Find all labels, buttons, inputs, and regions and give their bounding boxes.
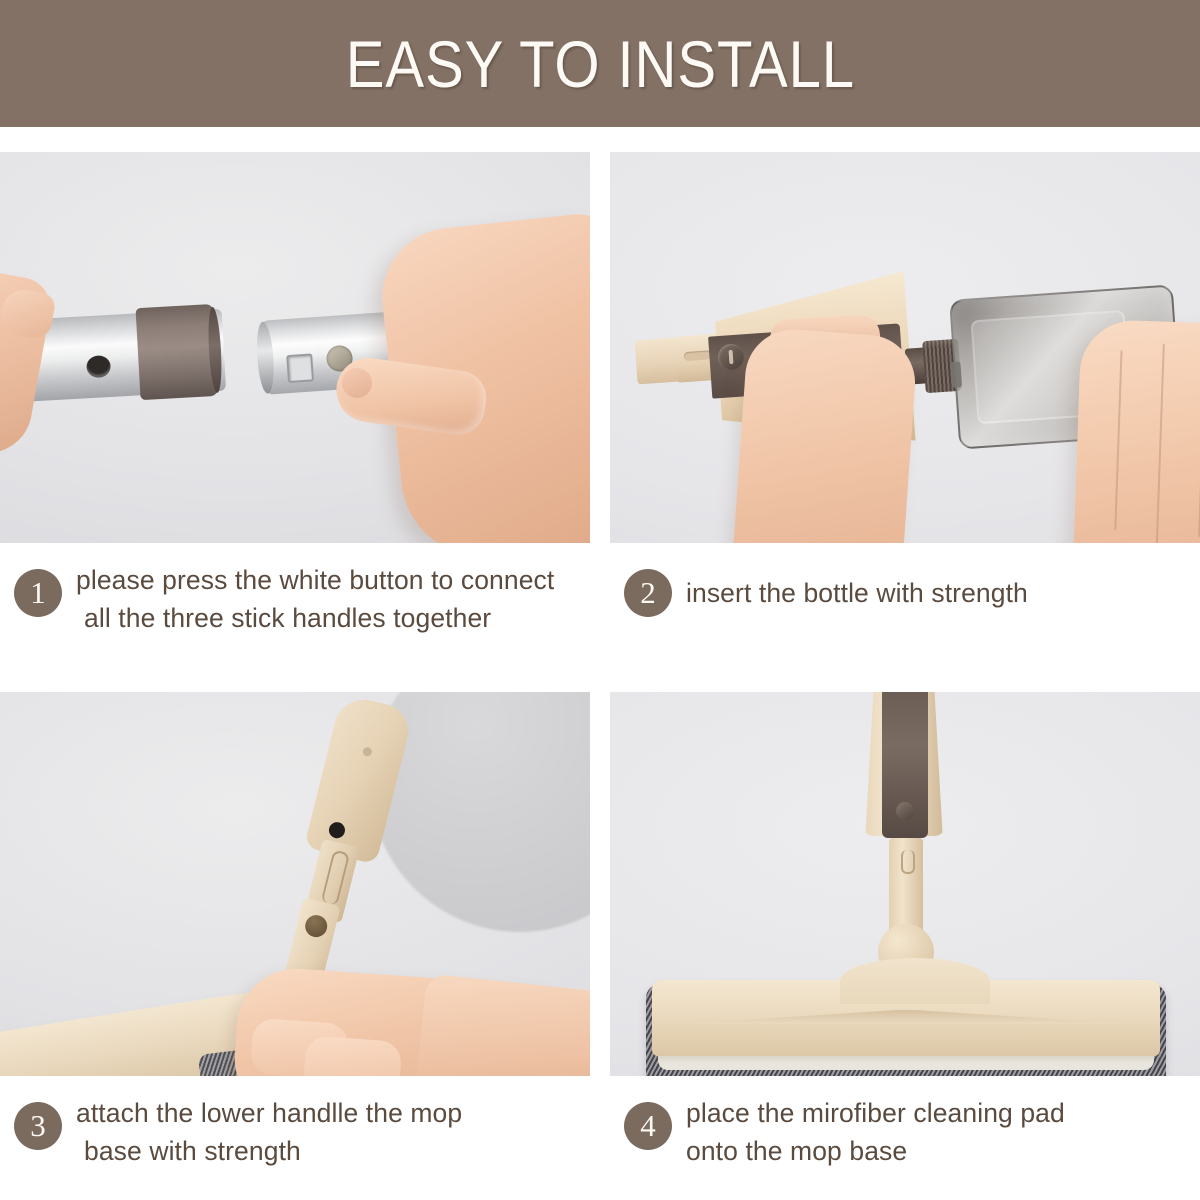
steps-grid: 1 please press the white button to conne… (0, 127, 1200, 1200)
page-title: EASY TO INSTALL (345, 26, 854, 102)
finger-crease (1156, 344, 1165, 543)
caption-line: insert the bottle with strength (686, 574, 1028, 612)
pole-collar (135, 304, 218, 400)
handle-slot (321, 849, 351, 906)
handle-dimple (362, 746, 373, 757)
step-text-2: insert the bottle with strength (686, 574, 1028, 612)
step-badge-2: 2 (624, 569, 672, 617)
step-card-4: 4 place the mirofiber cleaning pad onto … (610, 692, 1200, 1170)
step-card-2: 2 insert the bottle with strength (610, 152, 1200, 617)
handle-dark-strip (882, 692, 928, 838)
handle-button (896, 802, 914, 820)
step-caption-3: 3 attach the lower handlle the mop base … (0, 1076, 600, 1170)
neck-slot (901, 850, 915, 874)
step-photo-1 (0, 152, 590, 543)
step-text-4: place the mirofiber cleaning pad onto th… (686, 1094, 1065, 1170)
pole-button-hole (86, 355, 111, 378)
hand-right (1070, 319, 1200, 543)
caption-line: please press the white button to connect (76, 561, 554, 599)
finger-crease (1114, 350, 1122, 530)
caption-line: base with strength (76, 1132, 462, 1170)
step-badge-3: 3 (14, 1102, 62, 1150)
step-photo-3 (0, 692, 590, 1076)
pole-slot (286, 353, 314, 383)
step-badge-4: 4 (624, 1102, 672, 1150)
step-photo-4 (610, 692, 1200, 1076)
caption-line: attach the lower handlle the mop (76, 1094, 462, 1132)
header-band: EASY TO INSTALL (0, 0, 1200, 127)
step-card-1: 1 please press the white button to conne… (0, 152, 590, 637)
mop-base-plate (652, 980, 1160, 1056)
step-card-3: 3 attach the lower handlle the mop base … (0, 692, 590, 1170)
wrist (414, 973, 590, 1076)
finger (303, 1035, 403, 1076)
base-crease (680, 1010, 1132, 1024)
caption-line: all the three stick handles together (76, 599, 554, 637)
bottle-tab (950, 361, 962, 388)
base-hump (840, 958, 990, 1004)
step-photo-2 (610, 152, 1200, 543)
hand-left (728, 326, 919, 543)
neck-ridge (684, 350, 713, 361)
caption-line: place the mirofiber cleaning pad (686, 1094, 1065, 1132)
step-caption-1: 1 please press the white button to conne… (0, 543, 600, 637)
handle-neck (889, 838, 923, 934)
step-caption-4: 4 place the mirofiber cleaning pad onto … (610, 1076, 1200, 1170)
trigger-bar (729, 350, 734, 364)
handle-pin-hole (303, 913, 330, 940)
caption-line: onto the mop base (686, 1132, 1065, 1170)
step-text-3: attach the lower handlle the mop base wi… (76, 1094, 462, 1170)
step-badge-1: 1 (14, 569, 62, 617)
step-text-1: please press the white button to connect… (76, 561, 554, 637)
step-caption-2: 2 insert the bottle with strength (610, 543, 1200, 617)
handle-button-hole (327, 820, 346, 839)
